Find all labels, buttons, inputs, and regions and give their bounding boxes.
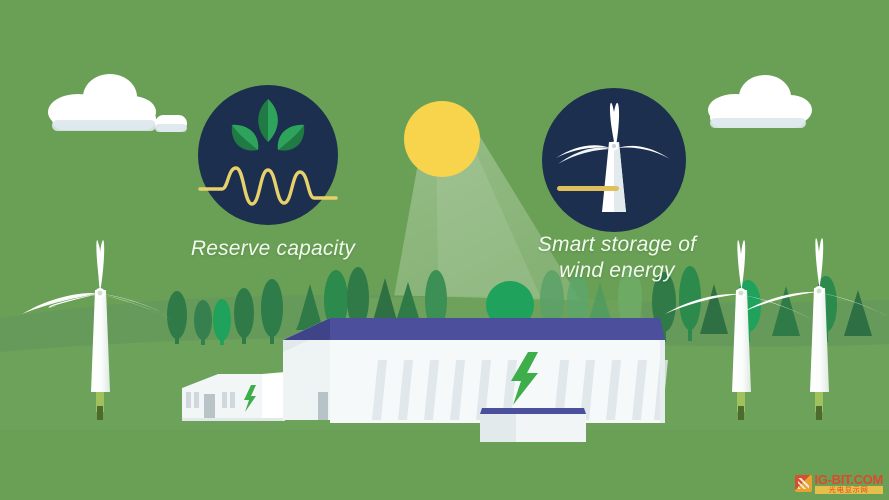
- substation-block: [480, 408, 586, 442]
- reserve-capacity-icon[interactable]: [198, 85, 338, 225]
- sun: [404, 101, 480, 177]
- watermark-subtitle: 光电显示网: [815, 486, 884, 494]
- wind-storage-icon[interactable]: [542, 88, 686, 232]
- watermark-text-group: IG-BIT.COM 光电显示网: [815, 473, 884, 494]
- watermark-domain: IG-BIT.COM: [815, 473, 884, 486]
- warehouse-roof: [330, 318, 665, 340]
- watermark-logo-icon: [795, 475, 812, 492]
- illustration-scene: Reserve capacity Smart storage of wind e…: [0, 0, 889, 500]
- storage-warehouse: [283, 318, 668, 423]
- site-watermark: IG-BIT.COM 光电显示网: [795, 473, 884, 494]
- ground-front: [0, 430, 889, 500]
- label-reserve-capacity: Reserve capacity: [168, 236, 378, 262]
- storage-level-bar: [557, 186, 619, 191]
- cloud-small-left: [155, 115, 187, 132]
- scene-svg: [0, 0, 889, 500]
- label-smart-storage: Smart storage of wind energy: [512, 232, 722, 284]
- substation-roof: [480, 408, 586, 414]
